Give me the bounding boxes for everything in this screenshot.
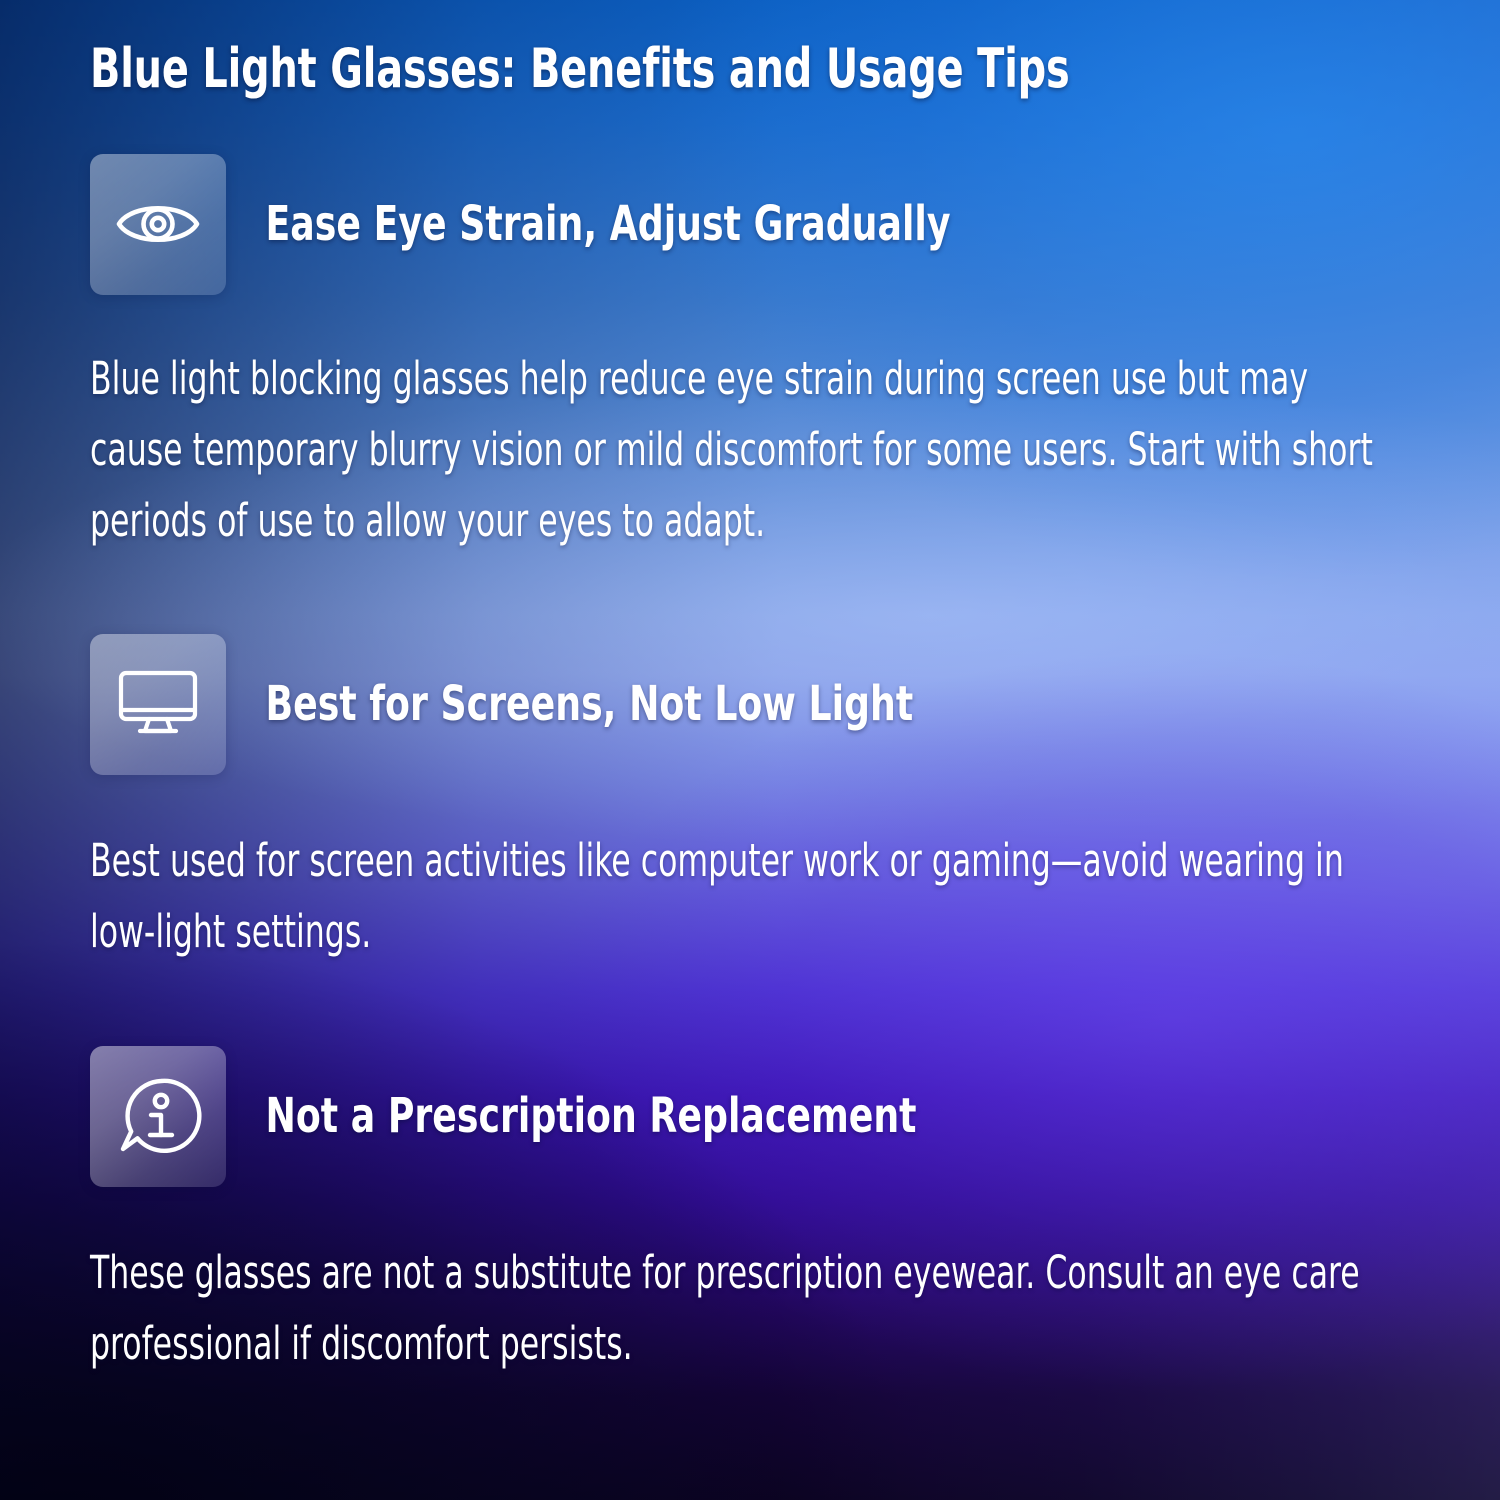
section-heading: Best for Screens, Not Low Light xyxy=(226,678,913,731)
section-body-text: Best used for screen activities like com… xyxy=(90,825,1408,967)
icon-tile-monitor xyxy=(90,634,226,775)
section-header: Best for Screens, Not Low Light xyxy=(90,634,1410,775)
section-best-for-screens: Best for Screens, Not Low Light Best use… xyxy=(90,634,1410,967)
poster-content: Blue Light Glasses: Benefits and Usage T… xyxy=(0,0,1500,1379)
section-header: Not a Prescription Replacement xyxy=(90,1046,1410,1187)
section-heading: Not a Prescription Replacement xyxy=(226,1090,917,1143)
infographic-poster: Blue Light Glasses: Benefits and Usage T… xyxy=(0,0,1500,1500)
icon-tile-eye xyxy=(90,154,226,295)
info-bubble-icon xyxy=(117,1076,199,1156)
monitor-icon xyxy=(118,669,198,739)
section-header: Ease Eye Strain, Adjust Gradually xyxy=(90,154,1410,295)
section-ease-eye-strain: Ease Eye Strain, Adjust Gradually Blue l… xyxy=(90,154,1410,556)
section-body-text: Blue light blocking glasses help reduce … xyxy=(90,343,1408,556)
icon-tile-info xyxy=(90,1046,226,1187)
section-not-a-prescription: Not a Prescription Replacement These gla… xyxy=(90,1046,1410,1379)
section-heading: Ease Eye Strain, Adjust Gradually xyxy=(226,198,950,251)
page-title: Blue Light Glasses: Benefits and Usage T… xyxy=(90,0,1172,101)
section-body-text: These glasses are not a substitute for p… xyxy=(90,1237,1408,1379)
eye-icon xyxy=(116,196,200,252)
